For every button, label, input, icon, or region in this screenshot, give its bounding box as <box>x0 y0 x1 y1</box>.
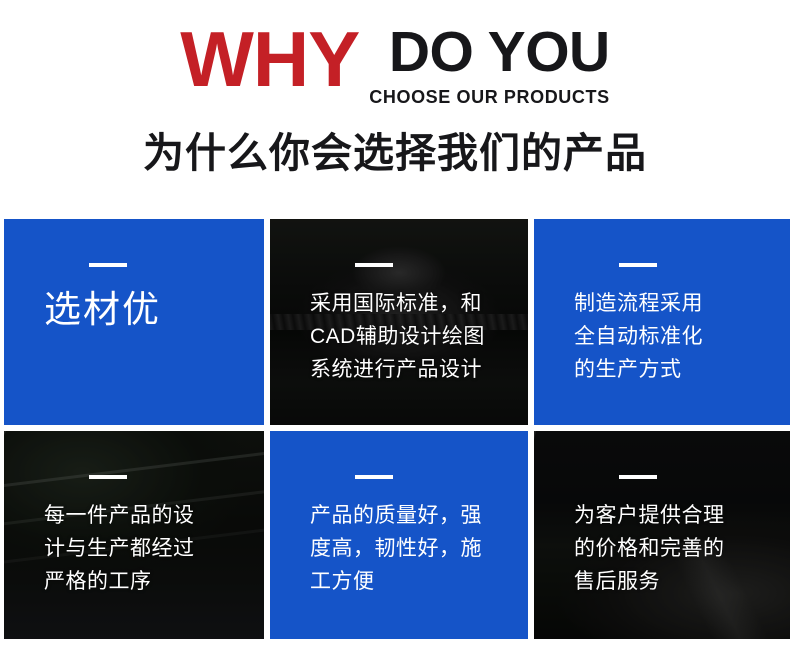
card-content: 为客户提供合理 的价格和完善的 售后服务 <box>534 431 790 639</box>
divider-dash-icon <box>355 475 393 479</box>
card-text: 为客户提供合理 的价格和完善的 售后服务 <box>574 499 790 598</box>
page-header: WHY DO YOU CHOOSE OUR PRODUCTS 为什么你会选择我们… <box>0 0 790 205</box>
divider-dash-icon <box>619 475 657 479</box>
card-text: 产品的质量好，强 度高，韧性好，施 工方便 <box>310 499 528 598</box>
card-text: 制造流程采用 全自动标准化 的生产方式 <box>574 287 790 386</box>
feature-card-standards: 采用国际标准，和 CAD辅助设计绘图 系统进行产品设计 <box>270 219 528 425</box>
card-content: 制造流程采用 全自动标准化 的生产方式 <box>534 219 790 425</box>
headline-why: WHY <box>180 18 359 100</box>
headline-choose-our-products: CHOOSE OUR PRODUCTS <box>369 86 609 108</box>
card-content: 采用国际标准，和 CAD辅助设计绘图 系统进行产品设计 <box>270 219 528 425</box>
feature-card-service: 为客户提供合理 的价格和完善的 售后服务 <box>534 431 790 639</box>
divider-dash-icon <box>89 475 127 479</box>
headline-do-you: DO YOU <box>389 22 610 82</box>
divider-dash-icon <box>355 263 393 267</box>
promo-page: WHY DO YOU CHOOSE OUR PRODUCTS 为什么你会选择我们… <box>0 0 790 665</box>
divider-dash-icon <box>619 263 657 267</box>
headline-row: WHY DO YOU CHOOSE OUR PRODUCTS <box>0 18 790 108</box>
card-text: 采用国际标准，和 CAD辅助设计绘图 系统进行产品设计 <box>310 287 528 386</box>
feature-card-automation: 制造流程采用 全自动标准化 的生产方式 <box>534 219 790 425</box>
headline-right-group: DO YOU CHOOSE OUR PRODUCTS <box>369 18 609 108</box>
feature-card-process: 每一件产品的设 计与生产都经过 严格的工序 <box>4 431 264 639</box>
card-content: 每一件产品的设 计与生产都经过 严格的工序 <box>4 431 264 639</box>
feature-grid: 选材优 采用国际标准，和 CAD辅助设计绘图 系统进行产品设计 制造流程采用 全… <box>4 219 786 639</box>
card-text: 选材优 <box>44 287 264 333</box>
feature-card-quality: 产品的质量好，强 度高，韧性好，施 工方便 <box>270 431 528 639</box>
card-text: 每一件产品的设 计与生产都经过 严格的工序 <box>44 499 264 598</box>
card-content: 产品的质量好，强 度高，韧性好，施 工方便 <box>270 431 528 639</box>
feature-card-material: 选材优 <box>4 219 264 425</box>
page-title: 为什么你会选择我们的产品 <box>0 127 790 179</box>
divider-dash-icon <box>89 263 127 267</box>
card-content: 选材优 <box>4 219 264 425</box>
